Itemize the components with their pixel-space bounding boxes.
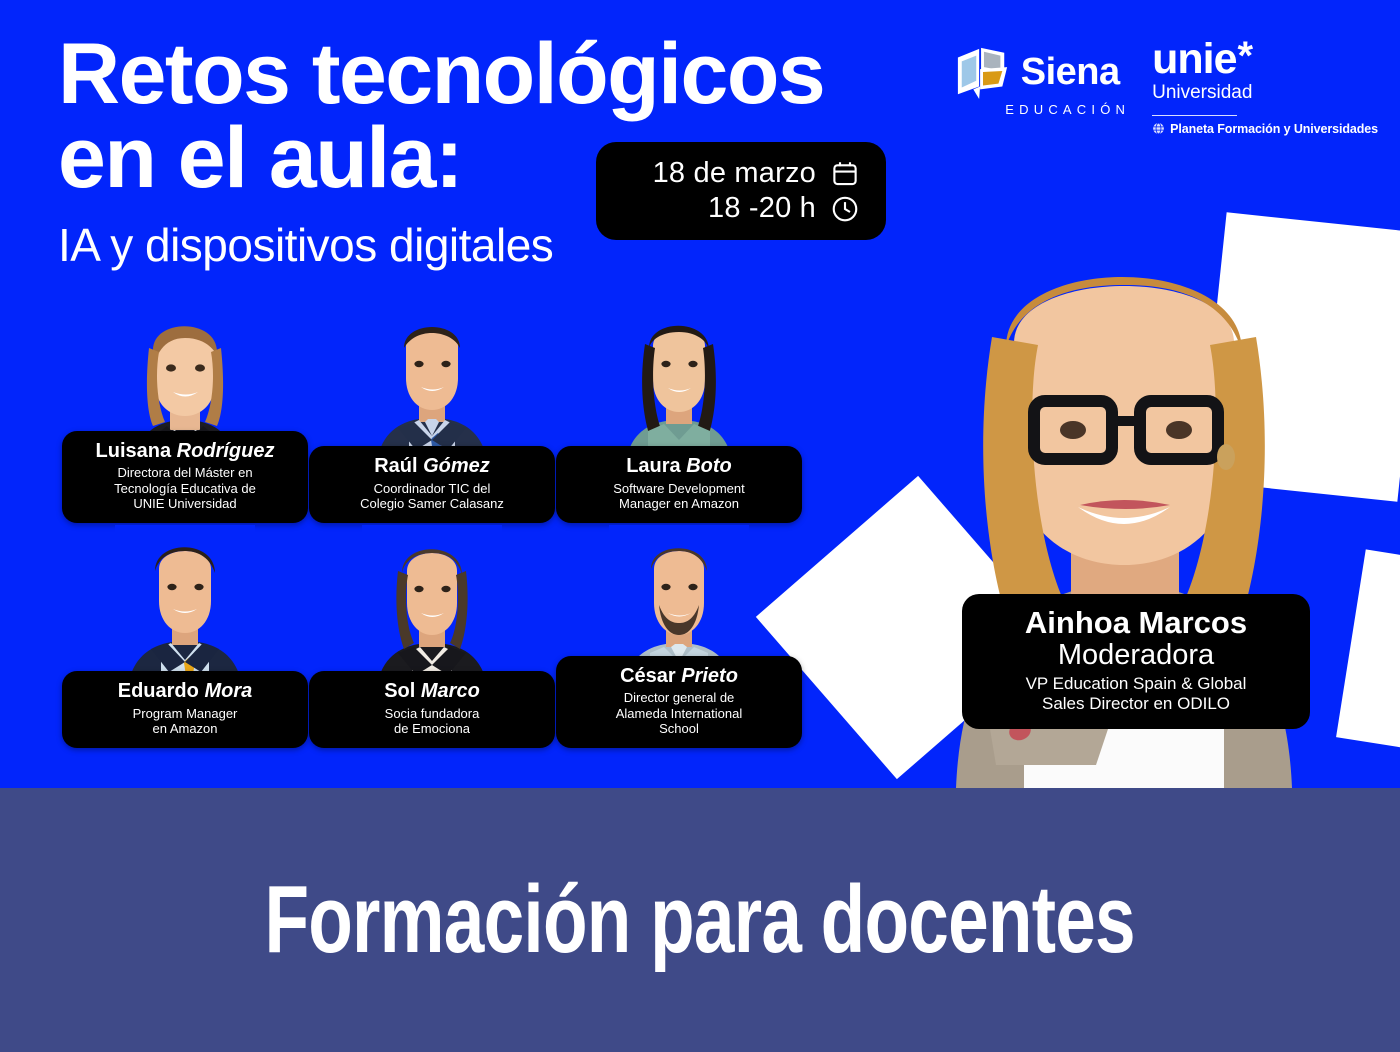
clock-icon (830, 194, 860, 224)
speaker-namebox: Laura Boto Software Development Manager … (556, 446, 802, 523)
speakers-row-2: Eduardo Mora Program Manager en Amazon (62, 525, 802, 750)
speaker-role: Coordinador TIC del Colegio Samer Calasa… (319, 481, 545, 512)
date-time-badge: 18 de marzo 18 -20 h (596, 142, 886, 240)
planeta-group-text: Planeta Formación y Universidades (1170, 122, 1378, 136)
speaker-role: Software Development Manager en Amazon (566, 481, 792, 512)
speaker-last-name: Mora (204, 680, 252, 702)
title-line-1: Retos tecnológicos (58, 26, 824, 122)
speaker-last-name: Rodríguez (177, 440, 275, 462)
planeta-row: Planeta Formación y Universidades (1152, 122, 1378, 136)
asterisk-icon: * (1238, 40, 1254, 72)
open-book-icon (954, 44, 1012, 100)
date-text: 18 de marzo (653, 157, 816, 190)
speaker-name: Raúl Gómez (319, 455, 545, 477)
footer-text: Formación para docentes (265, 865, 1135, 975)
speakers-row-1: Luisana Rodríguez Directora del Máster e… (62, 300, 802, 525)
speaker-namebox: Luisana Rodríguez Directora del Máster e… (62, 431, 308, 523)
speaker-last-name: Boto (686, 455, 732, 477)
speaker-role: Directora del Máster en Tecnología Educa… (72, 465, 298, 512)
time-text: 18 -20 h (708, 192, 816, 225)
speaker-role: Socia fundadora de Emociona (319, 706, 545, 737)
speaker-first-name: Laura (626, 455, 680, 477)
speaker-role: Director general de Alameda Internationa… (566, 690, 792, 737)
date-row: 18 de marzo (653, 157, 860, 190)
moderator-namebox: Ainhoa Marcos Moderadora VP Education Sp… (962, 594, 1310, 729)
footer-banner: Formación para docentes (0, 788, 1400, 1052)
speaker-last-name: Marco (421, 680, 480, 702)
speaker-name: Eduardo Mora (72, 680, 298, 702)
speaker-card[interactable]: Eduardo Mora Program Manager en Amazon (62, 525, 308, 750)
globe-icon (1152, 122, 1165, 135)
speaker-name: Sol Marco (319, 680, 545, 702)
unie-wordmark: unie (1152, 40, 1236, 79)
speaker-namebox: César Prieto Director general de Alameda… (556, 656, 802, 748)
logo-group: Siena EDUCACIÓN unie * Universidad (943, 40, 1378, 136)
moderator-name: Ainhoa Marcos (974, 607, 1298, 640)
speakers-grid: Luisana Rodríguez Directora del Máster e… (62, 300, 802, 750)
speaker-first-name: Luisana (96, 440, 172, 462)
speaker-last-name: Gómez (423, 455, 490, 477)
speaker-namebox: Eduardo Mora Program Manager en Amazon (62, 671, 308, 748)
speaker-first-name: César (620, 665, 676, 687)
divider (1152, 115, 1237, 116)
siena-logo-row: Siena (954, 44, 1120, 100)
calendar-icon (830, 159, 860, 189)
moderator-role: VP Education Spain & Global Sales Direct… (974, 674, 1298, 715)
siena-logo: Siena EDUCACIÓN (943, 40, 1130, 117)
unie-logo-row: unie * (1152, 40, 1378, 79)
siena-tagline: EDUCACIÓN (1005, 102, 1130, 117)
speaker-namebox: Raúl Gómez Coordinador TIC del Colegio S… (309, 446, 555, 523)
time-row: 18 -20 h (708, 192, 860, 225)
unie-logo: unie * Universidad Planeta Formación y U… (1152, 40, 1378, 136)
page-subtitle: IA y dispositivos digitales (58, 218, 553, 272)
speaker-card[interactable]: Sol Marco Socia fundadora de Emociona (309, 525, 555, 750)
poster-main-stage: Retos tecnológicos en el aula: IA y disp… (0, 0, 1400, 788)
event-poster: Retos tecnológicos en el aula: IA y disp… (0, 0, 1400, 1052)
speaker-name: Laura Boto (566, 455, 792, 477)
speaker-first-name: Raúl (374, 455, 417, 477)
siena-wordmark: Siena (1021, 53, 1120, 91)
speaker-namebox: Sol Marco Socia fundadora de Emociona (309, 671, 555, 748)
speaker-card[interactable]: Raúl Gómez Coordinador TIC del Colegio S… (309, 300, 555, 525)
moderator-card[interactable]: Ainhoa Marcos Moderadora VP Education Sp… (866, 205, 1386, 788)
speaker-first-name: Sol (384, 680, 415, 702)
speaker-last-name: Prieto (681, 665, 738, 687)
speaker-card[interactable]: Laura Boto Software Development Manager … (556, 300, 802, 525)
planeta-group-logo: Planeta Formación y Universidades (1152, 115, 1378, 136)
unie-tagline: Universidad (1152, 82, 1378, 104)
moderator-title: Moderadora (974, 640, 1298, 670)
speaker-first-name: Eduardo (118, 680, 199, 702)
speaker-role: Program Manager en Amazon (72, 706, 298, 737)
speaker-name: Luisana Rodríguez (72, 440, 298, 462)
speaker-name: César Prieto (566, 665, 792, 687)
speaker-card[interactable]: Luisana Rodríguez Directora del Máster e… (62, 300, 308, 525)
speaker-card[interactable]: César Prieto Director general de Alameda… (556, 525, 802, 750)
